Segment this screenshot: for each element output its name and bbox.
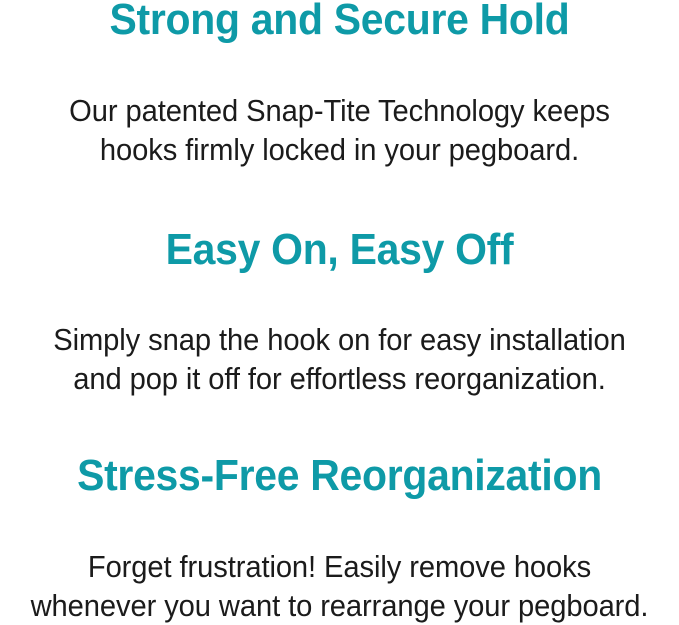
feature-block-strong-and-secure-hold: Strong and Secure Hold Our patented Snap… <box>0 0 679 169</box>
feature-description: Forget frustration! Easily remove hooks … <box>20 547 658 625</box>
feature-description: Simply snap the hook on for easy install… <box>20 320 658 398</box>
feature-description-line: Simply snap the hook on for easy install… <box>20 320 658 359</box>
feature-description-line: hooks firmly locked in your pegboard. <box>20 130 658 169</box>
feature-heading: Easy On, Easy Off <box>24 226 655 274</box>
feature-heading: Strong and Secure Hold <box>24 0 655 44</box>
feature-description-line: Forget frustration! Easily remove hooks <box>20 547 658 586</box>
feature-block-stress-free-reorganization: Stress-Free Reorganization Forget frustr… <box>0 398 679 625</box>
feature-description-line: and pop it off for effortless reorganiza… <box>20 359 658 398</box>
feature-list-page: Strong and Secure Hold Our patented Snap… <box>0 0 679 592</box>
feature-heading: Stress-Free Reorganization <box>24 452 655 500</box>
feature-description-line: Our patented Snap-Tite Technology keeps <box>20 91 658 130</box>
feature-block-easy-on-easy-off: Easy On, Easy Off Simply snap the hook o… <box>0 169 679 398</box>
feature-description: Our patented Snap-Tite Technology keeps … <box>20 91 658 169</box>
